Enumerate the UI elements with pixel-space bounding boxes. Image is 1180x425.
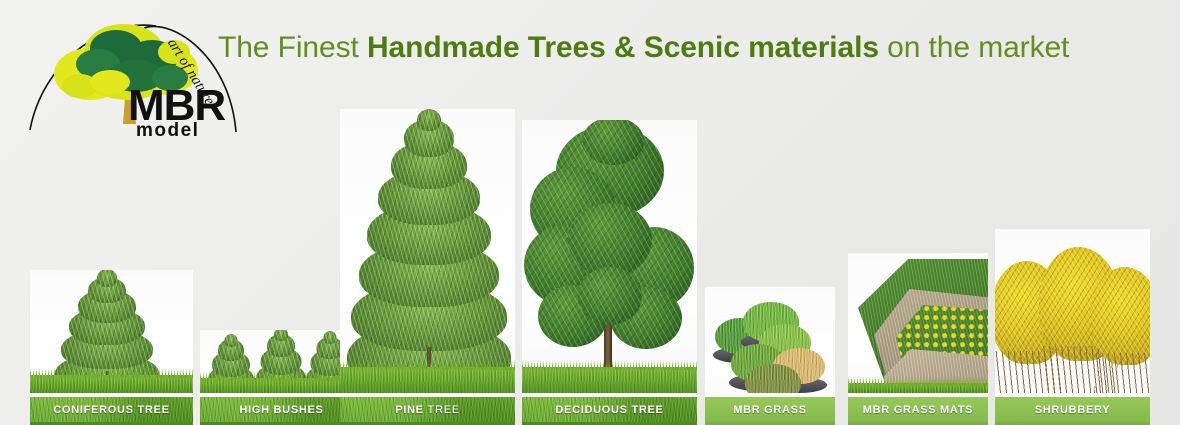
- product-label-coniferous-tree[interactable]: CONIFEROUS TREE: [30, 397, 193, 425]
- coniferous-tree-image: [30, 270, 193, 393]
- headline-part-3: on the market: [879, 31, 1069, 64]
- label-text: MBR GRASS: [733, 404, 807, 416]
- product-card-pine-tree[interactable]: PINE TREE: [340, 109, 515, 425]
- label-text: SHRUBBERY: [1035, 404, 1111, 416]
- grass-tuft: [743, 361, 803, 393]
- shrubbery-image: [995, 229, 1150, 393]
- promo-banner: MBR model art of nature The Finest Handm…: [0, 0, 1180, 425]
- product-label-deciduous-tree[interactable]: DECIDUOUS TREE: [522, 397, 697, 425]
- product-label-mbr-grass-mats[interactable]: MBR GRASS MATS: [848, 397, 988, 425]
- headline-part-2: Handmade Trees & Scenic materials: [367, 31, 879, 64]
- label-text: CONIFEROUS TREE: [53, 404, 169, 416]
- product-strip: CONIFEROUS TREE: [0, 125, 1180, 425]
- grass-ground: [522, 367, 697, 393]
- product-label-mbr-grass[interactable]: MBR GRASS: [705, 397, 835, 425]
- label-text: DECIDUOUS TREE: [555, 404, 663, 416]
- banner-header: MBR model art of nature The Finest Handm…: [0, 0, 1180, 140]
- grass-ground: [848, 383, 988, 393]
- product-card-mbr-grass[interactable]: MBR GRASS: [705, 287, 835, 425]
- product-card-shrubbery[interactable]: SHRUBBERY: [995, 229, 1150, 425]
- product-label-high-bushes[interactable]: HIGH BUSHES: [200, 397, 363, 425]
- label-text: HIGH BUSHES: [239, 404, 323, 416]
- product-card-deciduous-tree[interactable]: DECIDUOUS TREE: [522, 120, 697, 425]
- product-card-coniferous-tree[interactable]: CONIFEROUS TREE: [30, 270, 193, 425]
- label-text: MBR GRASS MATS: [863, 404, 973, 416]
- grass-ground: [340, 367, 515, 393]
- shrub: [1091, 267, 1150, 393]
- deciduous-tree-image: [522, 120, 697, 393]
- pine-tree-image: [340, 109, 515, 393]
- mbr-grass-mats-image: [848, 253, 988, 393]
- label-suffix: TREE: [428, 404, 460, 416]
- mbr-grass-image: [705, 287, 835, 393]
- product-card-high-bushes[interactable]: HIGH BUSHES: [200, 330, 363, 425]
- grass-ground: [200, 378, 363, 393]
- product-card-mbr-grass-mats[interactable]: MBR GRASS MATS: [848, 253, 988, 425]
- mbr-model-logo[interactable]: MBR model art of nature: [24, 12, 238, 138]
- product-label-pine-tree[interactable]: PINE TREE: [340, 397, 515, 425]
- product-label-shrubbery[interactable]: SHRUBBERY: [995, 397, 1150, 425]
- headline-part-1: The Finest: [218, 31, 367, 64]
- page-title: The Finest Handmade Trees & Scenic mater…: [218, 30, 1069, 66]
- high-bushes-image: [200, 330, 363, 393]
- grass-ground: [30, 375, 193, 393]
- label-text: PINE: [395, 404, 423, 416]
